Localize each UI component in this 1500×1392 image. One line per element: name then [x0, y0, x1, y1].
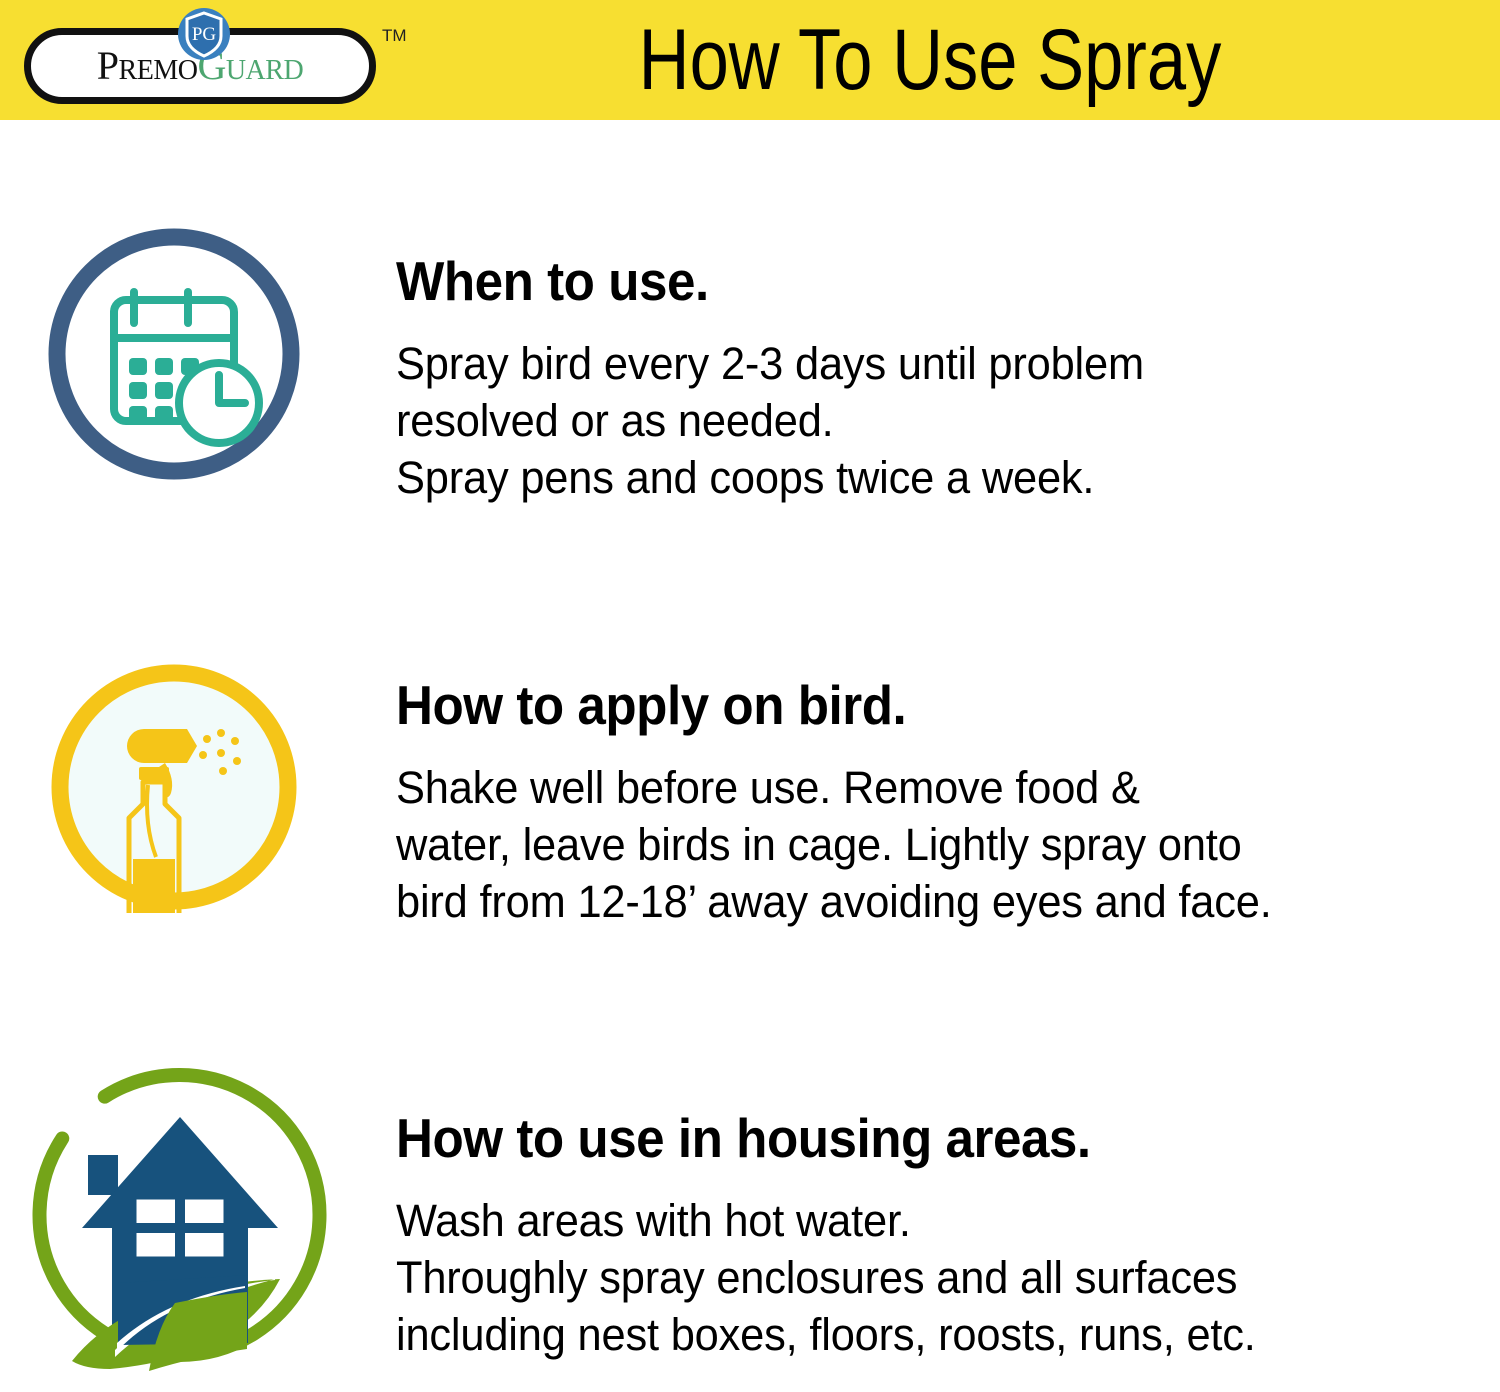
- brand-logo: PremoGuard PG TM: [14, 4, 414, 114]
- section-body: Spray bird every 2-3 days until problem …: [396, 335, 1429, 506]
- page-header: PremoGuard PG TM How To Use Spray: [0, 0, 1500, 120]
- section-body: Wash areas with hot water. Throughly spr…: [396, 1192, 1429, 1363]
- trademark-symbol: TM: [382, 26, 407, 46]
- shield-icon: PG: [176, 6, 232, 62]
- section-text-column: How to apply on bird. Shake well before …: [396, 677, 1466, 931]
- calendar-clock-icon: [45, 225, 303, 483]
- spray-bottle-icon: [45, 655, 303, 913]
- section-heading: How to apply on bird.: [396, 677, 1391, 733]
- section-text-column: When to use. Spray bird every 2-3 days u…: [396, 253, 1466, 507]
- section-text-column: How to use in housing areas. Wash areas …: [396, 1110, 1466, 1364]
- section-body: Shake well before use. Remove food & wat…: [396, 759, 1429, 930]
- shield-label: PG: [192, 24, 217, 45]
- page-title: How To Use Spray: [520, 0, 1340, 120]
- section-heading: How to use in housing areas.: [396, 1110, 1391, 1166]
- section-heading: When to use.: [396, 253, 1391, 309]
- house-leaf-icon: [30, 1065, 330, 1375]
